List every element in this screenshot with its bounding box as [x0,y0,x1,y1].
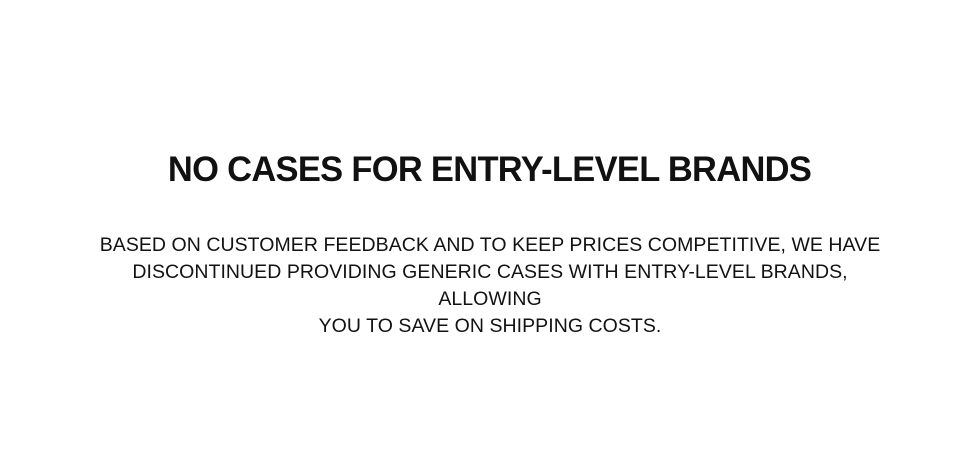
promo-description-line: YOU TO SAVE ON SHIPPING COSTS. [90,313,890,340]
promo-description: BASED ON CUSTOMER FEEDBACK AND TO KEEP P… [90,232,890,340]
promo-description-line: DISCONTINUED PROVIDING GENERIC CASES WIT… [90,259,890,313]
promo-description-line: BASED ON CUSTOMER FEEDBACK AND TO KEEP P… [90,232,890,259]
promo-banner: NO CASES FOR ENTRY-LEVEL BRANDS BASED ON… [0,0,980,450]
page-title: NO CASES FOR ENTRY-LEVEL BRANDS [168,152,811,187]
